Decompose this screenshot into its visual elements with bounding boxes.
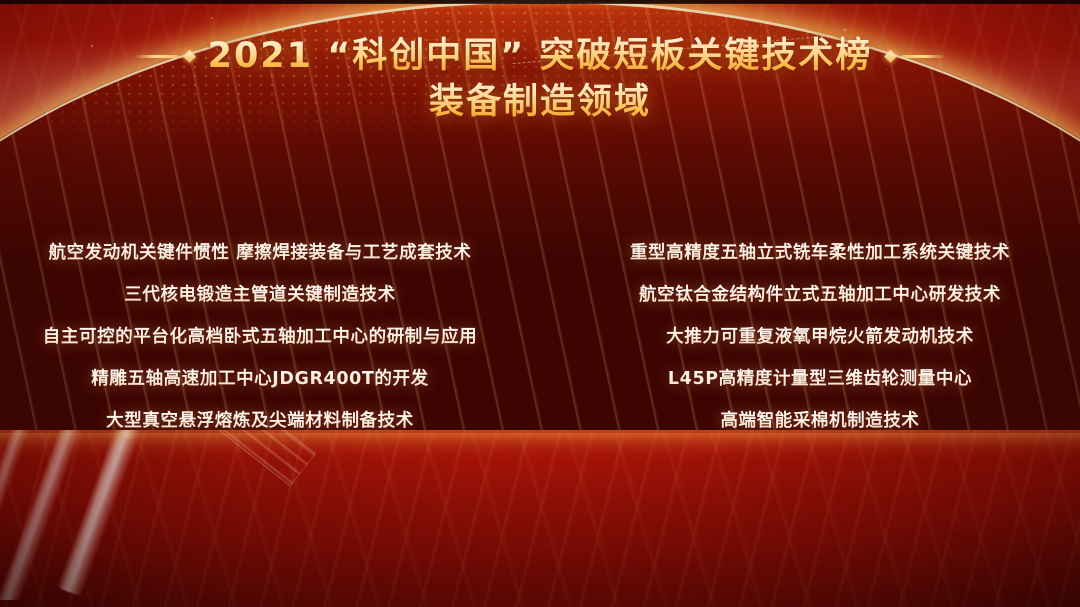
background-light-band: [0, 128, 1080, 204]
list-item: 大推力可重复液氧甲烷火箭发动机技术: [666, 316, 974, 358]
letterbox-top: [0, 0, 1080, 3]
technology-list: 航空发动机关键件惯性 摩擦焊接装备与工艺成套技术 三代核电锻造主管道关键制造技术…: [0, 232, 1080, 442]
page-subtitle: 装备制造领域: [0, 80, 1080, 124]
list-item: 三代核电锻造主管道关键制造技术: [124, 274, 396, 316]
slide-title-block: 2021 “科创中国” 突破短板关键技术榜 装备制造领域: [0, 34, 1080, 124]
diamond-icon: [885, 50, 898, 63]
title-ornament-left: [134, 52, 194, 61]
presentation-slide: 2021 “科创中国” 突破短板关键技术榜 装备制造领域 航空发动机关键件惯性 …: [0, 0, 1080, 607]
list-item: 高端智能采棉机制造技术: [720, 400, 919, 442]
technology-list-right-column: 重型高精度五轴立式铣车柔性加工系统关键技术 航空钛合金结构件立式五轴加工中心研发…: [544, 232, 1080, 442]
technology-list-left-column: 航空发动机关键件惯性 摩擦焊接装备与工艺成套技术 三代核电锻造主管道关键制造技术…: [0, 232, 544, 442]
page-title: 2021 “科创中国” 突破短板关键技术榜: [208, 34, 873, 78]
list-item: 航空钛合金结构件立式五轴加工中心研发技术: [639, 274, 1001, 316]
diamond-icon: [183, 50, 196, 63]
list-item: 重型高精度五轴立式铣车柔性加工系统关键技术: [630, 232, 1010, 274]
letterbox-bottom: [0, 0, 1080, 4]
list-item: 精雕五轴高速加工中心JDGR400T的开发: [91, 358, 428, 400]
title-ornament-right: [886, 52, 946, 61]
list-item: 自主可控的平台化高档卧式五轴加工中心的研制与应用: [43, 316, 477, 358]
list-item: 大型真空悬浮熔炼及尖端材料制备技术: [106, 400, 414, 442]
background-light-band-core: [65, 160, 1015, 167]
list-item: L45P高精度计量型三维齿轮测量中心: [668, 358, 972, 400]
list-item: 航空发动机关键件惯性 摩擦焊接装备与工艺成套技术: [49, 232, 472, 274]
